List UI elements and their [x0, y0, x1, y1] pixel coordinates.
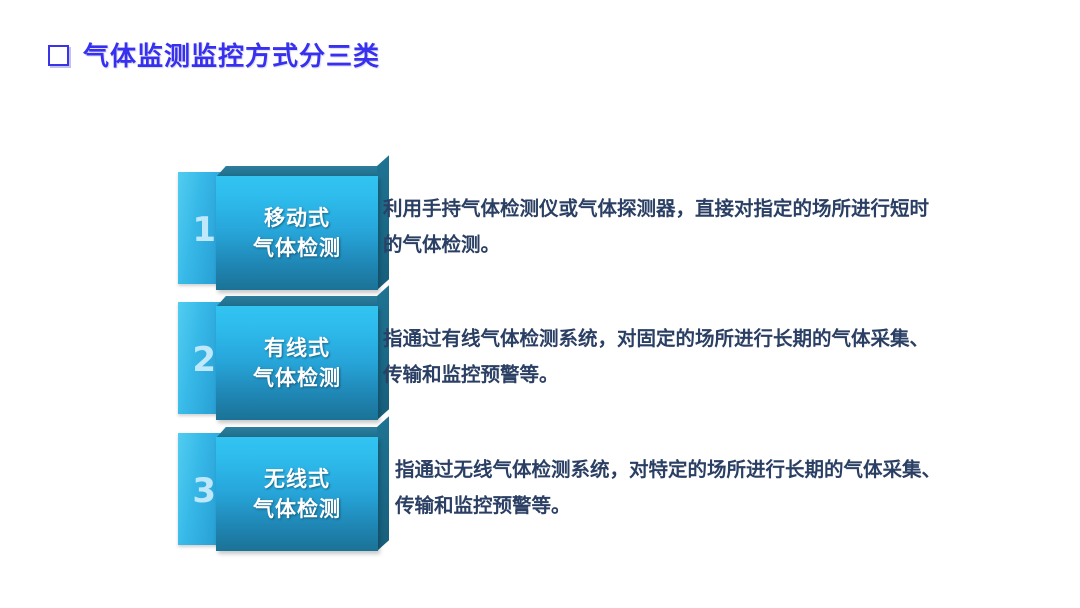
category-label-line2-2: 气体检测	[253, 366, 341, 390]
category-list: 1 移动式 气体检测 利用手持气体检测仪或气体探测器，直接对指定的场所进行短时的…	[0, 0, 1080, 608]
box-side-bevel	[377, 416, 389, 551]
box-front-face: 有线式 气体检测	[216, 306, 378, 420]
category-label-line2-3: 气体检测	[253, 497, 341, 521]
category-description-3: 指通过无线气体检测系统，对特定的场所进行长期的气体采集、传输和监控预警等。	[395, 453, 960, 525]
box-front-face: 无线式 气体检测	[216, 437, 378, 551]
category-box-2[interactable]: 有线式 气体检测	[216, 296, 378, 420]
category-description-2: 指通过有线气体检测系统，对固定的场所进行长期的气体采集、传输和监控预警等。	[383, 322, 948, 394]
category-label-line2-1: 气体检测	[253, 236, 341, 260]
category-box-1[interactable]: 移动式 气体检测	[216, 166, 378, 290]
category-label-line1-1: 移动式	[264, 206, 330, 230]
box-front-face: 移动式 气体检测	[216, 176, 378, 290]
category-box-3[interactable]: 无线式 气体检测	[216, 427, 378, 551]
category-label-line1-2: 有线式	[264, 336, 330, 360]
category-label-line1-3: 无线式	[264, 467, 330, 491]
category-description-1: 利用手持气体检测仪或气体探测器，直接对指定的场所进行短时的气体检测。	[383, 192, 948, 264]
